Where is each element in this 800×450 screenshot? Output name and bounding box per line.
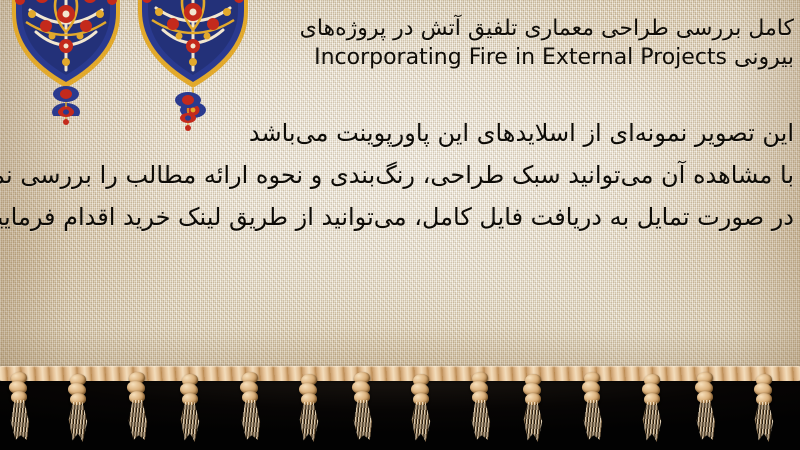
- tassel-skirt: [126, 400, 148, 440]
- tassel-skirt: [410, 402, 432, 442]
- tassel-skirt: [753, 402, 775, 442]
- fringe-tassel: [177, 374, 203, 444]
- title-line-fa: کامل بررسی طراحی معماری تلفیق آتش در پرو…: [2, 14, 794, 43]
- body-line-3: در صورت تمایل به دریافت فایل کامل، می‌تو…: [2, 196, 794, 238]
- fringe-tassel: [692, 372, 718, 442]
- tassel-skirt: [351, 400, 373, 440]
- fringe-tassel: [579, 372, 605, 442]
- body-line-1: این تصویر نمونه‌ای از اسلایدهای این پاور…: [2, 112, 794, 154]
- fringe-tassel: [65, 374, 91, 444]
- fringe-tassel: [467, 372, 493, 442]
- tassel-skirt: [641, 402, 663, 442]
- fringe-tassel: [408, 374, 434, 444]
- slide-canvas: کامل بررسی طراحی معماری تلفیق آتش در پرو…: [0, 0, 800, 450]
- fringe-tassel: [349, 372, 375, 442]
- title-line-en: بیرونی Incorporating Fire in External Pr…: [2, 43, 794, 72]
- lower-black-band: [0, 374, 800, 450]
- slide-title: کامل بررسی طراحی معماری تلفیق آتش در پرو…: [2, 14, 794, 72]
- fringe-tassel: [639, 374, 665, 444]
- tassel-skirt: [179, 402, 201, 442]
- tassel-skirt: [581, 400, 603, 440]
- tassel-skirt: [522, 402, 544, 442]
- tassel-skirt: [239, 400, 261, 440]
- slide-body: این تصویر نمونه‌ای از اسلایدهای این پاور…: [2, 112, 794, 238]
- tassel-skirt: [694, 400, 716, 440]
- fringe-tassel: [296, 374, 322, 444]
- fringe-tassel: [124, 372, 150, 442]
- carpet-selvedge-cord: [0, 366, 800, 381]
- body-line-2: با مشاهده آن می‌توانید سبک طراحی، رنگ‌بن…: [2, 154, 794, 196]
- fringe-tassel: [520, 374, 546, 444]
- tassel-skirt: [67, 402, 89, 442]
- fringe-tassel: [237, 372, 263, 442]
- tassel-skirt: [8, 400, 30, 440]
- tassel-skirt: [298, 402, 320, 442]
- tassel-skirt: [469, 400, 491, 440]
- fringe-tassel: [6, 372, 32, 442]
- fringe-tassel: [751, 374, 777, 444]
